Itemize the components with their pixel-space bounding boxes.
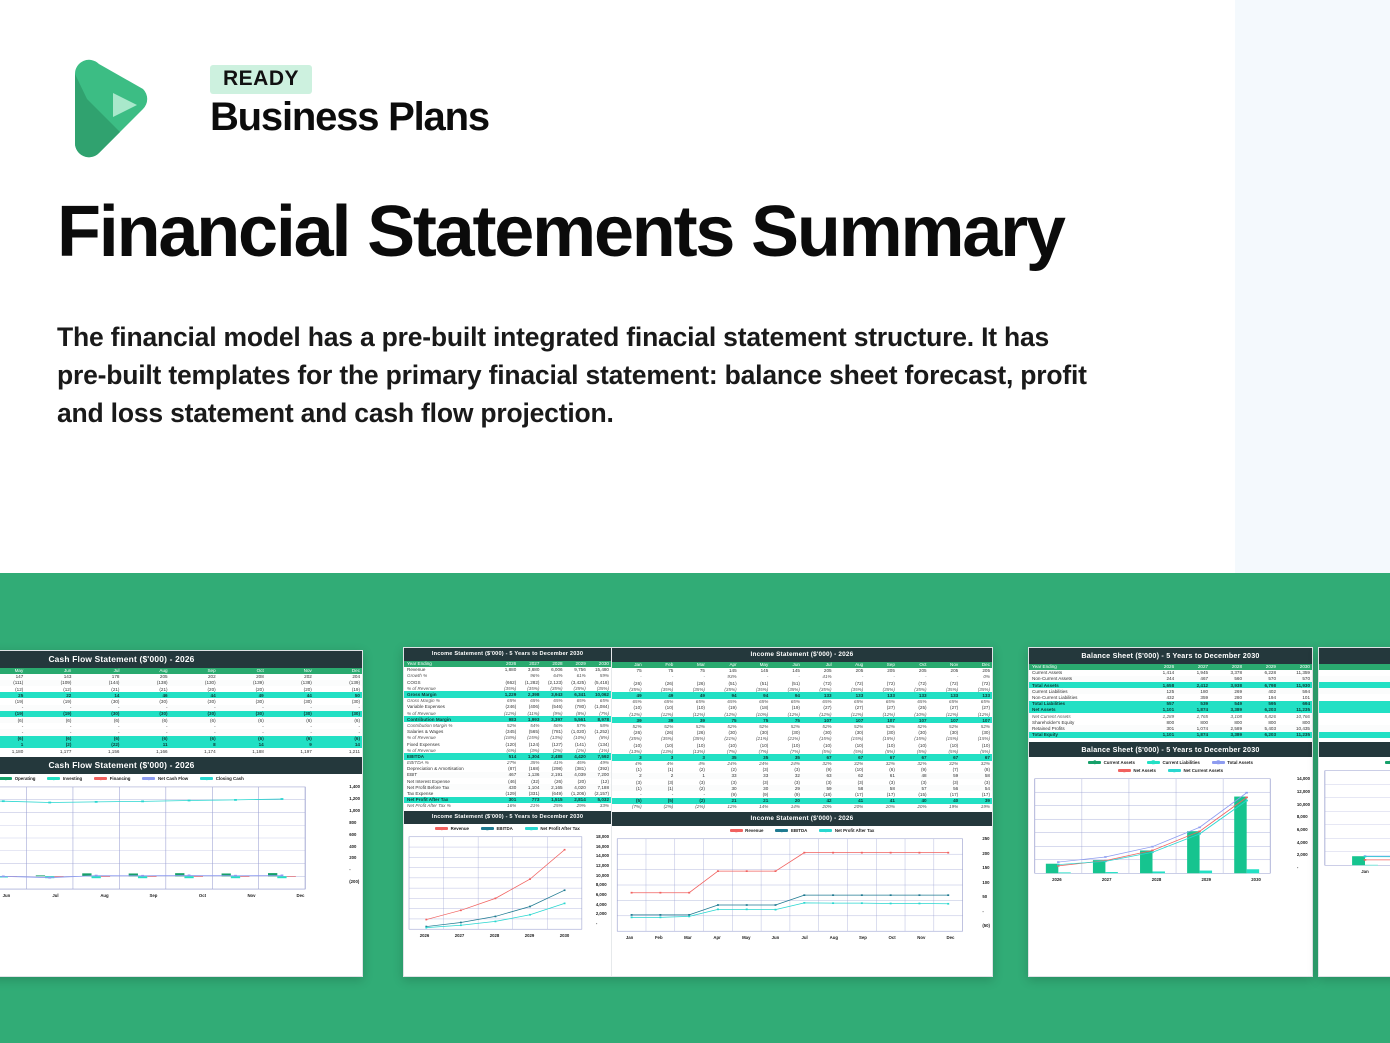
legend-swatch	[1088, 761, 1101, 764]
x-tick-label: 2027	[1082, 877, 1132, 882]
income-5yr-chart: 18,00016,00014,00012,00010,0008,0006,000…	[404, 832, 611, 939]
table-cell: 33%	[588, 803, 611, 809]
y-tick-label: 1,000	[349, 808, 360, 813]
legend-label: Revenue	[745, 828, 763, 833]
table-row: % of Revenue(6%)(3%)(2%)(1%)(1%)	[404, 747, 611, 753]
table-cell: 3,389	[1210, 732, 1244, 738]
legend-label: Current Liabilities	[1162, 760, 1199, 765]
table-row: Net Interest Expense(46)(32)(26)(20)(12)	[404, 778, 611, 784]
legend-label: Financing	[110, 776, 131, 781]
legend-item: EBITDA	[775, 828, 807, 833]
y-tick-label: 12,000	[1297, 789, 1310, 794]
y-tick-label: 10,000	[596, 873, 609, 878]
screenshot-card-income[interactable]: Income Statement ($'000) - 5 Years to De…	[403, 647, 993, 977]
table-row: Fixed Expenses(120)(124)(127)(141)(134)	[404, 741, 611, 747]
page-title: Financial Statements Summary	[57, 196, 1177, 268]
x-tick-label: Feb	[644, 935, 673, 940]
x-tick-label: 2030	[547, 933, 582, 938]
legend-label: Current Assets	[1104, 760, 1135, 765]
x-tick-label: Nov	[907, 935, 936, 940]
x-tick-label: 2029	[512, 933, 547, 938]
table-cell: 1,211	[314, 748, 362, 754]
balance-chart-title: Balance Sheet ($'000) - 5 Years to Decem…	[1029, 742, 1312, 758]
table-row: Gross Margin1,2292,3983,9436,34110,062	[404, 691, 611, 697]
cashflow-sheet: Cash Flow Statement ($'000) - 2026 AprMa…	[0, 651, 362, 899]
screenshot-card-cashflow[interactable]: Cash Flow Statement ($'000) - 2026 AprMa…	[0, 650, 363, 977]
balance-monthly-sheet: JanFeb 1,3411,32318361,3591,359657249548…	[1319, 648, 1390, 875]
table-row: (7%)(2%)(2%)12%14%14%20%20%20%20%19%19%	[612, 804, 992, 810]
table-cell: 16%	[495, 803, 518, 809]
income-2026-legend: RevenueEBITDANet Profit After Tax	[612, 826, 992, 835]
legend-label: Net Profit After Tax	[540, 826, 580, 831]
y-tick-label: 6,000	[1297, 827, 1310, 832]
y-tick-label: 400	[349, 844, 360, 849]
legend-swatch	[142, 777, 155, 780]
brand-name: Business Plans	[210, 96, 489, 139]
table-cell: 21%	[518, 803, 541, 809]
legend-label: Total Assets	[1227, 760, 1253, 765]
x-tick-label: 2026	[1032, 877, 1082, 882]
balance-monthly-chart: JanFeb	[1319, 766, 1390, 875]
y-tick-label: 50	[982, 894, 990, 899]
y-tick-label: 600	[349, 832, 360, 837]
legend-swatch	[47, 777, 60, 780]
y-tick-label: 18,000	[596, 834, 609, 839]
y-tick-label: -	[596, 921, 609, 926]
table-row: Non-Current Liabilities432359280194101	[1029, 694, 1312, 700]
table-row: % of Revenue(12%)(11%)(9%)(8%)(7%)	[404, 710, 611, 716]
x-tick-label: Jul	[31, 893, 80, 898]
y-tick-label: -	[1297, 865, 1310, 870]
legend-item: Net Profit After Tax	[525, 826, 580, 831]
income-2026-title: Income Statement ($'000) - 2026	[612, 648, 992, 662]
slide-root: READY Business Plans Financial Statement…	[0, 0, 1390, 1043]
legend-swatch	[730, 829, 743, 832]
income-5yr-legend: RevenueEBITDANet Profit After Tax	[404, 824, 611, 833]
table-cell: 1,188	[218, 748, 266, 754]
x-tick-label: Mar	[673, 935, 702, 940]
y-tick-label: 2,000	[596, 911, 609, 916]
legend-label: Net Assets	[1133, 768, 1156, 773]
legend-swatch	[94, 777, 107, 780]
table-cell: 20%	[897, 804, 929, 810]
income-2026-chart-title: Income Statement ($'000) - 2026	[612, 812, 992, 826]
x-tick-label: 2028	[1132, 877, 1182, 882]
legend-label: Revenue	[451, 826, 469, 831]
x-tick-label: Sep	[848, 935, 877, 940]
y-tick-label: 6,000	[596, 892, 609, 897]
table-row: % of Revenue(35%)(35%)(35%)(35%)(35%)	[404, 685, 611, 691]
table-cell: 1,166	[121, 748, 169, 754]
income-5yr-table: Year Ending20262027202820292030 Revenue1…	[404, 661, 611, 810]
balance-monthly-table: JanFeb 1,3411,32318361,3591,359657249548…	[1319, 664, 1390, 738]
y-tick-label: 2,000	[1297, 852, 1310, 857]
legend-item: EBITDA	[481, 826, 513, 831]
legend-swatch	[435, 827, 448, 830]
legend-item: Revenue	[730, 828, 764, 833]
legend-swatch	[1118, 769, 1131, 772]
x-tick-label: Sep	[129, 893, 178, 898]
legend-item: Net Assets	[1118, 768, 1156, 773]
y-tick-label: 100	[982, 880, 990, 885]
y-tick-label: 14,000	[596, 853, 609, 858]
x-tick-label: Dec	[276, 893, 325, 898]
table-row: 799798	[1319, 732, 1390, 738]
income-5yr-pane: Income Statement ($'000) - 5 Years to De…	[404, 648, 612, 976]
income-5yr-title: Income Statement ($'000) - 5 Years to De…	[404, 648, 611, 661]
cashflow-table-title: Cash Flow Statement ($'000) - 2026	[0, 651, 362, 668]
table-cell: 1,156	[73, 748, 121, 754]
table-cell: 1,197	[266, 748, 314, 754]
income-5yr-body: Revenue1,8803,6806,0069,75615,480Growth …	[404, 667, 611, 809]
table-cell: 20%	[802, 804, 834, 810]
table-cell: 11,235	[1278, 732, 1312, 738]
income-2026-body: 757575145145145205205205205205205---93%-…	[612, 668, 992, 810]
balance-monthly-legend: Current Assets	[1319, 757, 1390, 766]
table-cell: 1,174	[170, 748, 218, 754]
table-cell: 1,874	[1176, 732, 1210, 738]
legend-item: Investing	[47, 776, 82, 781]
cashflow-chart-legend: OperatingInvestingFinancingNet Cash Flow…	[0, 774, 362, 783]
legend-swatch	[819, 829, 832, 832]
x-tick-label: Nov	[227, 893, 276, 898]
page-description: The financial model has a pre-built inte…	[57, 318, 1087, 432]
table-cell: 19%	[960, 804, 992, 810]
legend-swatch	[1168, 769, 1181, 772]
y-tick-label: 800	[349, 820, 360, 825]
y-tick-label: 8,000	[596, 882, 609, 887]
table-cell: 25%	[541, 803, 564, 809]
balance-legend-row1: Current AssetsCurrent LiabilitiesTotal A…	[1029, 757, 1312, 766]
table-row: Shareholder's Equity800800800800800	[1029, 719, 1312, 725]
legend-label: Net Current Assets	[1183, 768, 1223, 773]
legend-label: Net Profit After Tax	[835, 828, 875, 833]
x-tick-label: Aug	[80, 893, 129, 898]
y-tick-label: 12,000	[596, 863, 609, 868]
legend-swatch	[1212, 761, 1225, 764]
balance-table-body: Current Assets1,4141,9453,3786,22811,359…	[1029, 670, 1312, 738]
legend-label: Operating	[15, 776, 36, 781]
y-tick-label: 150	[982, 865, 990, 870]
x-tick-label: 2028	[477, 933, 512, 938]
balance-table: Year Ending20262027202820292030 Current …	[1029, 664, 1312, 738]
legend-swatch	[200, 777, 213, 780]
table-cell: (2%)	[675, 804, 707, 810]
y-tick-label: -	[982, 909, 990, 914]
table-cell: 6,203	[1244, 732, 1278, 738]
x-tick-label: 2026	[407, 933, 442, 938]
y-tick-label: (50)	[982, 923, 990, 928]
table-cell: 19%	[929, 804, 961, 810]
x-tick-label: Apr	[703, 935, 732, 940]
balance-chart: 14,00012,00010,0008,0006,0004,0002,000- …	[1029, 774, 1312, 883]
right-tint-panel	[1235, 0, 1390, 573]
y-tick-label: (200)	[349, 879, 360, 884]
legend-item: Current Assets	[1385, 760, 1390, 765]
legend-swatch	[0, 777, 12, 780]
row-label: Net Profit After Tax %	[404, 803, 495, 809]
x-tick-label: Aug	[819, 935, 848, 940]
legend-item: Total Assets	[1212, 760, 1253, 765]
table-row: Variable Expenses(246)(406)(546)(780)(1,…	[404, 704, 611, 710]
cashflow-chart-title: Cash Flow Statement ($'000) - 2026	[0, 757, 362, 774]
table-cell: 14%	[770, 804, 802, 810]
legend-swatch	[525, 827, 538, 830]
legend-item: Current Assets	[1088, 760, 1135, 765]
table-cell: 799	[1319, 732, 1390, 738]
table-cell: (2%)	[644, 804, 676, 810]
cashflow-table: AprMayJunJulAugSepOctNovDec 791091471431…	[0, 668, 362, 755]
table-row: Total Equity1,1011,8743,3896,20311,235	[1029, 732, 1312, 738]
table-cell: 29%	[565, 803, 588, 809]
y-tick-label: 4,000	[1297, 840, 1310, 845]
table-cell: 1,101	[1142, 732, 1176, 738]
y-tick-label: 250	[982, 836, 990, 841]
row-label: Total Equity	[1029, 732, 1142, 738]
table-row: Salaries & Wages(345)(565)(781)(1,020)(1…	[404, 729, 611, 735]
income-2026-table: JanFebMarAprMayJunJulAugSepOctNovDec 757…	[612, 662, 992, 811]
y-tick-label: 8,000	[1297, 814, 1310, 819]
table-row: Gross Margin %65%65%65%65%65%	[404, 698, 611, 704]
y-tick-label: 1,400	[349, 784, 360, 789]
brand-lockup: READY Business Plans	[57, 57, 537, 162]
x-tick-label: May	[732, 935, 761, 940]
table-cell: 1,180	[0, 748, 25, 754]
x-tick-label: 2029	[1181, 877, 1231, 882]
legend-swatch	[481, 827, 494, 830]
legend-item: Financing	[94, 776, 130, 781]
legend-swatch	[1147, 761, 1160, 764]
legend-label: EBITDA	[791, 828, 807, 833]
ready-badge: READY	[210, 65, 312, 94]
legend-item: Operating	[0, 776, 35, 781]
legend-label: Investing	[63, 776, 82, 781]
x-tick-label: Jun	[761, 935, 790, 940]
brand-text-block: READY Business Plans	[210, 65, 489, 139]
balance-sheet: Balance Sheet ($'000) - 5 Years to Decem…	[1029, 648, 1312, 883]
y-tick-label: 1,200	[349, 796, 360, 801]
table-cell: 1,177	[25, 748, 73, 754]
legend-label: Closing Cash	[216, 776, 244, 781]
legend-item: Net Cash Flow	[142, 776, 188, 781]
table-row: Contribution Margin %52%54%56%57%58%	[404, 722, 611, 728]
balance-monthly-body: 1,3411,32318361,3591,3596572495489560561…	[1319, 670, 1390, 738]
y-tick-label: 16,000	[596, 844, 609, 849]
legend-swatch	[1385, 761, 1390, 764]
legend-item: Current Liabilities	[1147, 760, 1200, 765]
table-cell: 20%	[865, 804, 897, 810]
legend-label: Net Cash Flow	[158, 776, 188, 781]
y-tick-label: 200	[349, 855, 360, 860]
x-tick-label: 2030	[1231, 877, 1281, 882]
table-cell: 20%	[834, 804, 866, 810]
play-triangle-logo-icon	[57, 57, 155, 160]
y-tick-label: 4,000	[596, 902, 609, 907]
x-tick-label: Oct	[178, 893, 227, 898]
cashflow-table-body: 79109147143178205202208202204(75)(110)(1…	[0, 674, 362, 754]
table-row: 1,2171,1791,1801,1771,1561,1661,1741,188…	[0, 748, 362, 754]
screenshot-card-balance-sheet[interactable]: Balance Sheet ($'000) - 5 Years to Decem…	[1028, 647, 1313, 977]
table-cell: (7%)	[612, 804, 644, 810]
screenshot-card-balance-monthly[interactable]: JanFeb 1,3411,32318361,3591,359657249548…	[1318, 647, 1390, 977]
table-row: % of Revenue(18%)(15%)(13%)(10%)(8%)	[404, 735, 611, 741]
income-2026-chart: 25020015010050-(50) JanFebMarAprMayJunJu…	[612, 834, 992, 941]
cashflow-chart: 1,4001,2001,000800600400200-(200) AprMay…	[0, 782, 362, 899]
x-tick-label: 2027	[442, 933, 477, 938]
income-2026-pane: Income Statement ($'000) - 2026 JanFebMa…	[612, 648, 992, 976]
income-5yr-chart-title: Income Statement ($'000) - 5 Years to De…	[404, 811, 611, 824]
y-tick-label: 14,000	[1297, 776, 1310, 781]
legend-item: Net Profit After Tax	[819, 828, 874, 833]
balance-legend-row2: Net AssetsNet Current Assets	[1029, 766, 1312, 775]
legend-swatch	[775, 829, 788, 832]
y-tick-label: 10,000	[1297, 802, 1310, 807]
y-tick-label: -	[349, 867, 360, 872]
legend-item: Revenue	[435, 826, 469, 831]
x-tick-label: Dec	[936, 935, 965, 940]
table-cell: 14%	[739, 804, 771, 810]
x-tick-label: Oct	[878, 935, 907, 940]
table-row: Depreciation & Amortisation(87)(168)(298…	[404, 766, 611, 772]
table-row: Non-Current Assets244467560570570	[1029, 676, 1312, 682]
x-tick-label: Jul	[790, 935, 819, 940]
table-row: Net Profit After Tax %16%21%25%29%33%	[404, 803, 611, 809]
x-tick-label: Jan	[1322, 869, 1390, 874]
table-cell: 12%	[707, 804, 739, 810]
legend-item: Net Current Assets	[1168, 768, 1223, 773]
y-tick-label: 200	[982, 851, 990, 856]
x-tick-label: Jan	[615, 935, 644, 940]
legend-label: EBITDA	[496, 826, 512, 831]
balance-table-title: Balance Sheet ($'000) - 5 Years to Decem…	[1029, 648, 1312, 664]
legend-item: Closing Cash	[200, 776, 244, 781]
x-tick-label: Jun	[0, 893, 31, 898]
